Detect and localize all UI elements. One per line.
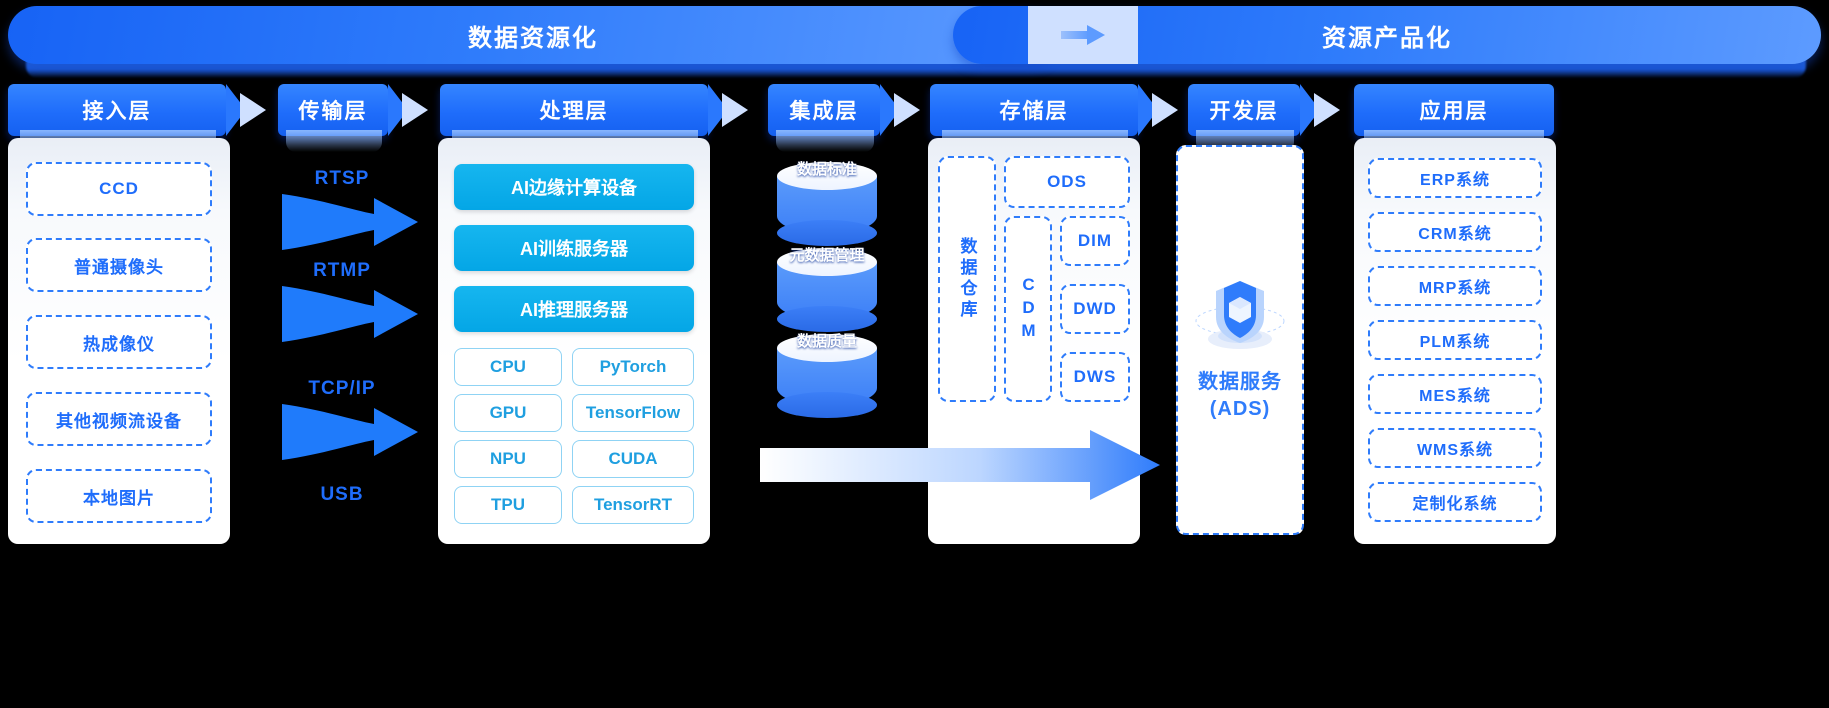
storage-cdm[interactable]: CDM (1004, 216, 1052, 402)
cylinder-label: 数据质量 (777, 330, 877, 351)
access-item-label: 其他视频流设备 (56, 407, 182, 432)
data-flow-arrow (760, 430, 1160, 500)
mart-label: DWD (1073, 299, 1117, 319)
application-item-mrp[interactable]: MRP系统 (1368, 266, 1542, 306)
processing-ai-training-server[interactable]: AI训练服务器 (454, 225, 694, 271)
banner-data-resourcing: 数据资源化 (8, 6, 1058, 64)
connector-integration-storage (894, 93, 920, 127)
cylinder-bottom (777, 220, 877, 246)
layer-header-storage[interactable]: 存储层 (930, 84, 1138, 136)
access-item-label: CCD (99, 179, 139, 199)
processing-framework-tensorflow[interactable]: TensorFlow (572, 394, 694, 432)
ods-label: ODS (1047, 172, 1087, 192)
development-ads-title: 数据服务 (ADS) (1178, 369, 1302, 423)
framework-label: TensorRT (594, 495, 672, 515)
hardware-label: GPU (490, 403, 527, 423)
access-item-other-video[interactable]: 其他视频流设备 (26, 392, 212, 446)
layer-header-processing-label: 处理层 (540, 95, 609, 125)
framework-label: TensorFlow (586, 403, 680, 423)
storage-dwd[interactable]: DWD (1060, 284, 1130, 334)
layer-header-transmission[interactable]: 传输层 (278, 84, 388, 136)
ads-line1: 数据服务 (1198, 371, 1282, 393)
layer-header-application[interactable]: 应用层 (1354, 84, 1554, 136)
banner-right-label: 资源产品化 (1322, 18, 1452, 53)
access-item-local-image[interactable]: 本地图片 (26, 469, 212, 523)
application-item-label: ERP系统 (1420, 166, 1490, 190)
storage-dim[interactable]: DIM (1060, 216, 1130, 266)
hardware-label: CPU (490, 357, 526, 377)
framework-label: PyTorch (600, 357, 667, 377)
application-item-crm[interactable]: CRM系统 (1368, 212, 1542, 252)
storage-data-warehouse[interactable]: 数据仓库 (938, 156, 996, 402)
application-item-label: MES系统 (1419, 382, 1491, 406)
processing-framework-pytorch[interactable]: PyTorch (572, 348, 694, 386)
processing-ai-edge-device[interactable]: AI边缘计算设备 (454, 164, 694, 210)
cylinder-bottom (777, 306, 877, 332)
protocol-label-usb: USB (262, 484, 422, 506)
cylinder-label: 元数据管理 (777, 244, 877, 265)
layer-header-processing[interactable]: 处理层 (440, 84, 708, 136)
shield-cube-icon (1178, 273, 1302, 359)
connector-processing-integration (722, 93, 748, 127)
access-item-label: 普通摄像头 (74, 253, 164, 278)
hardware-label: NPU (490, 449, 526, 469)
development-layer-panel[interactable]: 数据服务 (ADS) (1176, 145, 1304, 535)
header-glow-integration (776, 130, 874, 152)
layer-header-storage-label: 存储层 (1000, 95, 1069, 125)
connector-transmission-processing (402, 93, 428, 127)
framework-label: CUDA (608, 449, 657, 469)
layer-header-integration-label: 集成层 (790, 95, 859, 125)
layer-header-access-label: 接入层 (83, 95, 152, 125)
processing-layer-panel: AI边缘计算设备 AI训练服务器 AI推理服务器 CPU GPU NPU TPU… (438, 138, 710, 544)
banner-left-label: 数据资源化 (468, 18, 598, 53)
processing-hardware-gpu[interactable]: GPU (454, 394, 562, 432)
processing-hardware-tpu[interactable]: TPU (454, 486, 562, 524)
storage-dws[interactable]: DWS (1060, 352, 1130, 402)
processing-framework-cuda[interactable]: CUDA (572, 440, 694, 478)
ai-box-label: AI边缘计算设备 (511, 174, 637, 200)
layer-header-development-label: 开发层 (1210, 95, 1279, 125)
cylinder-label: 数据标准 (777, 158, 877, 179)
cylinder-bottom (777, 392, 877, 418)
ai-box-label: AI训练服务器 (520, 235, 628, 261)
top-banner: 数据资源化 资源产品化 (8, 6, 1821, 66)
layer-header-integration[interactable]: 集成层 (768, 84, 880, 136)
application-item-erp[interactable]: ERP系统 (1368, 158, 1542, 198)
processing-framework-tensorrt[interactable]: TensorRT (572, 486, 694, 524)
transmission-arrow-1 (282, 192, 418, 252)
layer-header-transmission-label: 传输层 (299, 95, 368, 125)
protocol-label-rtsp: RTSP (262, 168, 422, 190)
cdm-label: CDM (1018, 275, 1038, 344)
application-item-custom[interactable]: 定制化系统 (1368, 482, 1542, 522)
processing-ai-inference-server[interactable]: AI推理服务器 (454, 286, 694, 332)
application-item-label: MRP系统 (1419, 274, 1492, 298)
connector-access-transmission (240, 93, 266, 127)
hardware-label: TPU (491, 495, 525, 515)
integration-cylinder-metadata-management[interactable]: 元数据管理 (777, 248, 877, 334)
integration-layer-group: 数据标准 元数据管理 数据质量 (775, 150, 885, 440)
storage-ods[interactable]: ODS (1004, 156, 1130, 208)
right-arrow-icon (1061, 25, 1105, 45)
application-item-label: PLM系统 (1420, 328, 1491, 352)
layer-header-development[interactable]: 开发层 (1188, 84, 1300, 136)
transmission-layer-group: RTSP RTMP TCP/IP USB (262, 150, 422, 540)
header-glow-transmission (286, 130, 382, 152)
integration-cylinder-data-quality[interactable]: 数据质量 (777, 334, 877, 420)
integration-cylinder-data-standard[interactable]: 数据标准 (777, 162, 877, 248)
ai-box-label: AI推理服务器 (520, 296, 628, 322)
connector-development-application (1314, 93, 1340, 127)
access-item-camera[interactable]: 普通摄像头 (26, 238, 212, 292)
application-item-plm[interactable]: PLM系统 (1368, 320, 1542, 360)
transmission-arrow-3 (282, 402, 418, 462)
connector-storage-development (1152, 93, 1178, 127)
transmission-arrow-2 (282, 284, 418, 344)
access-item-label: 热成像仪 (83, 330, 155, 355)
access-item-thermal[interactable]: 热成像仪 (26, 315, 212, 369)
access-item-label: 本地图片 (83, 484, 155, 509)
processing-hardware-cpu[interactable]: CPU (454, 348, 562, 386)
layer-header-application-label: 应用层 (1420, 95, 1489, 125)
application-item-label: 定制化系统 (1412, 490, 1497, 514)
data-warehouse-label: 数据仓库 (955, 237, 980, 321)
architecture-diagram: 数据资源化 资源产品化 接入层 传输层 处理层 集成层 存储层 开发层 应用层 (0, 0, 1829, 708)
banner-connector (1028, 6, 1138, 64)
mart-label: DWS (1074, 367, 1117, 387)
layer-header-access[interactable]: 接入层 (8, 84, 226, 136)
protocol-label-tcpip: TCP/IP (262, 378, 422, 400)
protocol-label-rtmp: RTMP (262, 260, 422, 282)
application-item-label: CRM系统 (1418, 220, 1491, 244)
application-layer-panel: ERP系统 CRM系统 MRP系统 PLM系统 MES系统 WMS系统 定制化系… (1354, 138, 1556, 544)
mart-label: DIM (1078, 231, 1112, 251)
application-item-mes[interactable]: MES系统 (1368, 374, 1542, 414)
access-layer-panel: CCD 普通摄像头 热成像仪 其他视频流设备 本地图片 (8, 138, 230, 544)
processing-hardware-npu[interactable]: NPU (454, 440, 562, 478)
ads-line2: (ADS) (1210, 398, 1271, 420)
application-item-wms[interactable]: WMS系统 (1368, 428, 1542, 468)
application-item-label: WMS系统 (1417, 436, 1493, 460)
access-item-ccd[interactable]: CCD (26, 162, 212, 216)
